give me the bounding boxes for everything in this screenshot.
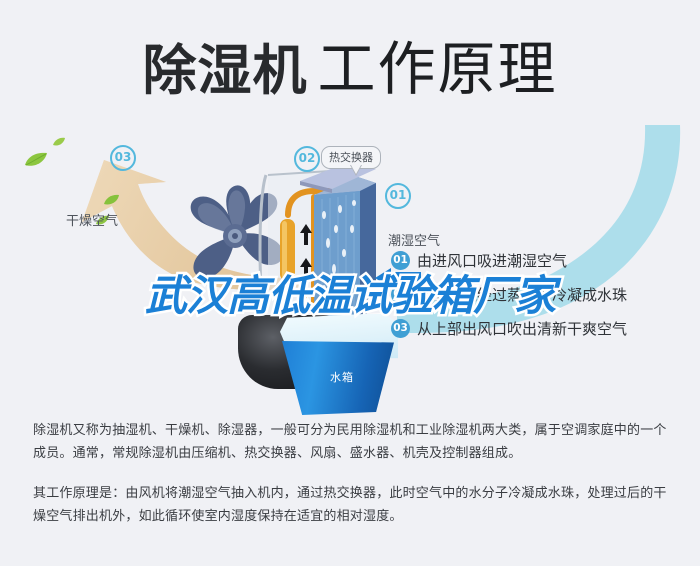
description-block: 除湿机又称为抽湿机、干燥机、除湿器，一般可分为民用除湿机和工业除湿机两大类，属于… [33,419,673,538]
leaf-icon [53,134,66,152]
page-title-part1: 除湿机 [142,39,307,102]
callout-02-circle: 02 [294,146,320,172]
page-title: 除湿机工作原理 [0,22,700,106]
callout-01-circle: 01 [385,183,411,209]
description-paragraph-2: 其工作原理是：由风机将潮湿空气抽入机内，通过热交换器，此时空气中的水分子冷凝成水… [33,482,673,528]
heat-exchanger-bubble-tail [350,165,362,176]
leaf-icon [24,152,48,173]
leaf-icon [104,193,120,211]
page-title-part2: 工作原理 [317,35,557,103]
description-paragraph-1: 除湿机又称为抽湿机、干燥机、除湿器，一般可分为民用除湿机和工业除湿机两大类，属于… [33,419,673,465]
water-tank-label: 水箱 [310,369,374,385]
callout-03-label: 干燥空气 [66,210,118,229]
watermark-text: 武汉高低温试验箱厂家 [0,262,700,323]
callout-03-circle: 03 [110,145,136,171]
page-root: 除湿机工作原理 [0,0,700,566]
